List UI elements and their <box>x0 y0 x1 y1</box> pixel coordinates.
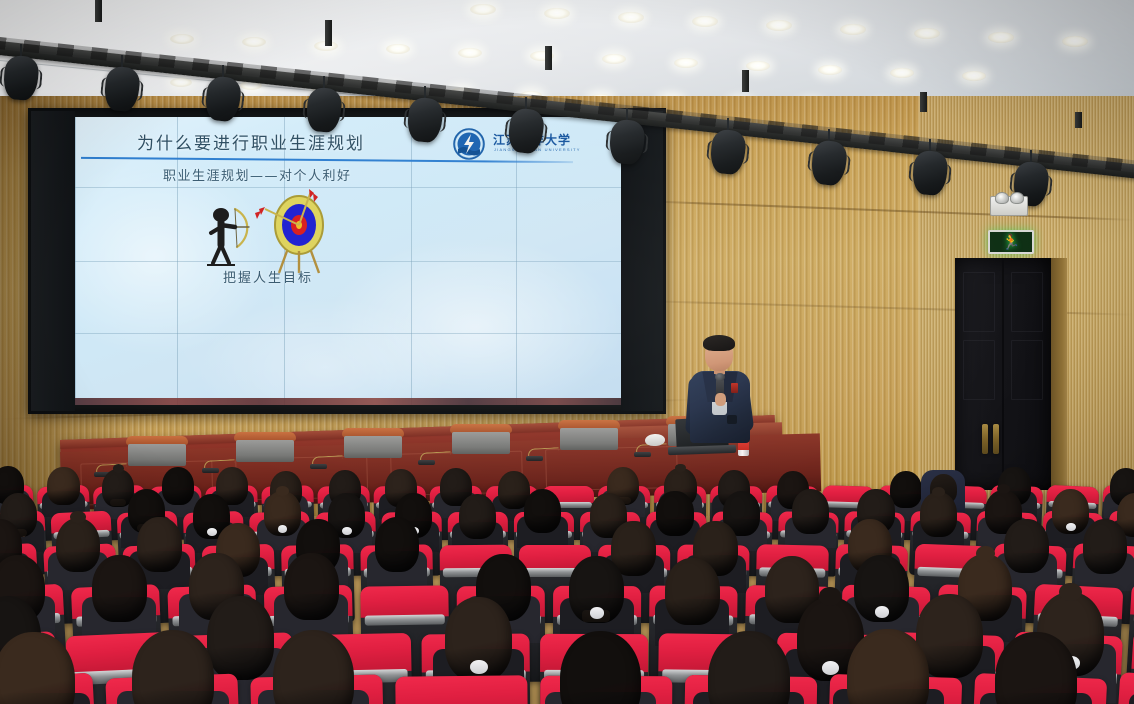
ceiling-downlight <box>840 24 866 35</box>
truss-support-post <box>742 70 749 92</box>
university-crest-icon <box>451 128 487 160</box>
microphone-base <box>310 464 327 469</box>
door-handle-right[interactable] <box>993 424 999 454</box>
audience-member-head <box>207 596 274 680</box>
spotlight-yoke <box>323 76 325 89</box>
microphone-base <box>526 456 543 461</box>
audience-member-head <box>665 558 720 625</box>
hair-bun <box>113 464 124 473</box>
ceiling-downlight <box>544 8 570 19</box>
podium-chair[interactable] <box>560 428 618 450</box>
audience-member-head <box>524 489 561 534</box>
audience-member-head <box>92 555 147 622</box>
audience-member-head <box>284 553 339 620</box>
lcd-video-wall[interactable]: 为什么要进行职业生涯规划 职业生涯规划——对个人利好 <box>28 108 666 414</box>
audience-member-head <box>1004 519 1049 574</box>
audience-member-head <box>890 471 922 509</box>
door-panel <box>1011 340 1043 400</box>
emergency-light <box>990 196 1028 216</box>
audience-member-head <box>137 517 182 572</box>
seat-headrest <box>395 675 527 704</box>
audience-member-head <box>56 518 101 573</box>
hair-scrunchie <box>207 528 217 536</box>
podium-chair[interactable] <box>128 444 186 466</box>
microphone-base <box>634 452 651 457</box>
hair-bun <box>1059 583 1082 601</box>
microphone-base <box>418 460 435 465</box>
ceiling-downlight <box>1062 36 1088 47</box>
audience-member-head <box>656 491 693 536</box>
ceiling-downlight <box>618 12 644 23</box>
audience-member-head <box>162 467 194 505</box>
audience-member-head <box>920 492 957 537</box>
truss-support-post <box>325 20 332 46</box>
auditorium-photo: 为什么要进行职业生涯规划 职业生涯规划——对个人利好 <box>0 0 1134 704</box>
ceiling-downlight <box>170 34 194 44</box>
hair-scrunchie <box>342 527 352 535</box>
presenter-hair <box>703 335 735 351</box>
presenter-hand <box>715 393 726 406</box>
seat-headrest <box>361 585 449 617</box>
presenter-pocket <box>727 415 737 424</box>
podium-chair[interactable] <box>236 440 294 462</box>
door-center-seam <box>1002 258 1004 490</box>
presentation-slide: 为什么要进行职业生涯规划 职业生涯规划——对个人利好 <box>75 117 621 405</box>
door-reveal <box>1051 258 1067 490</box>
ceiling-downlight <box>692 16 718 27</box>
hair-bun <box>819 587 842 605</box>
emergency-lamp-right <box>1010 192 1024 204</box>
running-man-icon: 🏃 <box>1002 235 1021 250</box>
hair-scrunchie <box>278 525 288 533</box>
microphone-head <box>715 373 725 381</box>
slide-title: 为什么要进行职业生涯规划 <box>137 129 365 154</box>
truss-support-post <box>1075 112 1082 128</box>
truss-support-post <box>95 0 102 22</box>
ceiling-downlight <box>818 65 842 75</box>
ceiling-downlight <box>470 4 496 15</box>
hair-bun <box>932 487 945 497</box>
ceiling-downlight <box>914 28 940 39</box>
spotlight-yoke <box>626 108 628 121</box>
hair-scrunchie <box>590 607 604 618</box>
truss-support-post <box>920 92 927 112</box>
audience-member-head <box>792 489 829 534</box>
hair-scrunchie <box>875 606 889 617</box>
door-panel <box>1011 272 1043 332</box>
ceiling-downlight <box>890 68 914 78</box>
spotlight-yoke <box>121 55 123 68</box>
audience-member-head <box>47 467 79 505</box>
hair-bun <box>976 546 995 561</box>
podium-chair[interactable] <box>452 432 510 454</box>
ceiling-downlight <box>170 78 192 87</box>
slide-caption: 把握人生目标 <box>223 267 313 286</box>
hair-scrunchie <box>470 660 487 674</box>
presenter-badge <box>731 383 738 393</box>
ceiling-downlight <box>458 48 482 58</box>
door-panel <box>963 272 995 332</box>
exit-sign: 🏃 <box>988 230 1034 254</box>
archer-and-target-icon <box>195 175 365 280</box>
emergency-lamp-left <box>995 192 1009 204</box>
hair-bun <box>276 486 289 496</box>
seat-trim-bar <box>364 614 445 626</box>
presenter <box>685 333 755 448</box>
exit-door[interactable] <box>955 258 1051 490</box>
podium-chair[interactable] <box>344 436 402 458</box>
audience-member-head <box>459 494 496 539</box>
door-handle-left[interactable] <box>982 424 988 454</box>
hair-scrunchie <box>822 661 839 675</box>
ceiling-downlight <box>766 20 792 31</box>
truss-support-post <box>545 46 552 70</box>
ceiling-downlight <box>674 58 698 68</box>
ceiling-downlight <box>988 32 1014 43</box>
microphone-base <box>202 468 219 473</box>
audience-member-head <box>375 517 420 572</box>
audience-member-head <box>1083 519 1128 574</box>
door-panel <box>963 340 995 400</box>
auditorium-seat[interactable] <box>395 675 528 704</box>
